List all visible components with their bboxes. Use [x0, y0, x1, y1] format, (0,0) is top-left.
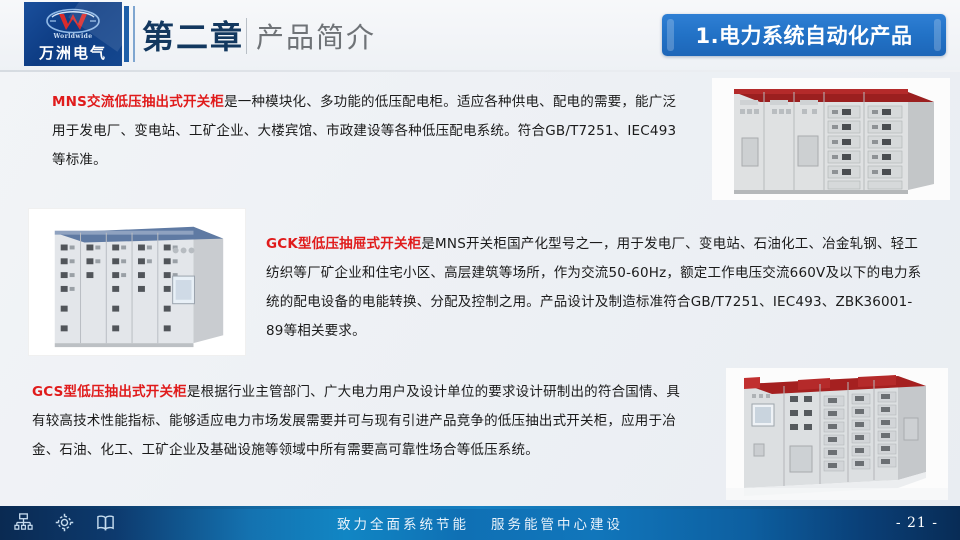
header-accent-bar-thin: [133, 6, 135, 62]
section-banner-label: 1.电力系统自动化产品: [695, 20, 912, 50]
keyword-gck: GCK型低压抽屉式开关柜: [266, 236, 421, 252]
page-number: - 21 -: [896, 506, 938, 540]
paragraph-gck: GCK型低压抽屉式开关柜是MNS开关柜国产化型号之一，用于发电厂、变电站、石油化…: [266, 230, 926, 346]
page-subtitle: 产品简介: [256, 16, 376, 56]
header-divider: [246, 18, 247, 54]
keyword-mns: MNS交流低压抽出式开关柜: [52, 94, 224, 110]
paragraph-mns: MNS交流低压抽出式开关柜是一种模块化、多功能的低压配电柜。适应各种供电、配电的…: [52, 88, 682, 175]
logo-sub-text: Worldwide: [24, 33, 122, 40]
section-banner: 1.电力系统自动化产品: [662, 14, 946, 56]
gcs-cabinet-photo: [726, 368, 948, 500]
footer-slogan-left: 致力全面系统节能: [337, 513, 469, 533]
header-accent-bar: [124, 6, 129, 62]
header-rule: [0, 70, 960, 72]
company-logo: Worldwide 万洲电气: [24, 2, 122, 66]
chapter-title: 第二章: [142, 12, 244, 58]
slide: Worldwide 万洲电气 第二章 产品简介 1.电力系统自动化产品 MNS交…: [0, 0, 960, 540]
gck-cabinet-photo: [28, 208, 246, 356]
paragraph-gcs: GCS型低压抽出式开关柜是根据行业主管部门、广大电力用户及设计单位的要求设计研制…: [32, 378, 692, 465]
logo-company-name: 万洲电气: [24, 42, 122, 63]
footer-slogan-right: 服务能管中心建设: [491, 513, 623, 533]
slide-footer: 致力全面系统节能 服务能管中心建设 - 21 -: [0, 506, 960, 540]
gck-cabinet-illustration: [29, 209, 245, 355]
keyword-gcs: GCS型低压抽出式开关柜: [32, 384, 187, 400]
mns-cabinet-photo: [712, 78, 950, 200]
w-shield-icon: [46, 8, 100, 34]
footer-slogan: 致力全面系统节能 服务能管中心建设: [0, 506, 960, 540]
gcs-cabinet-illustration: [726, 368, 948, 500]
mns-cabinet-illustration: [712, 78, 950, 200]
